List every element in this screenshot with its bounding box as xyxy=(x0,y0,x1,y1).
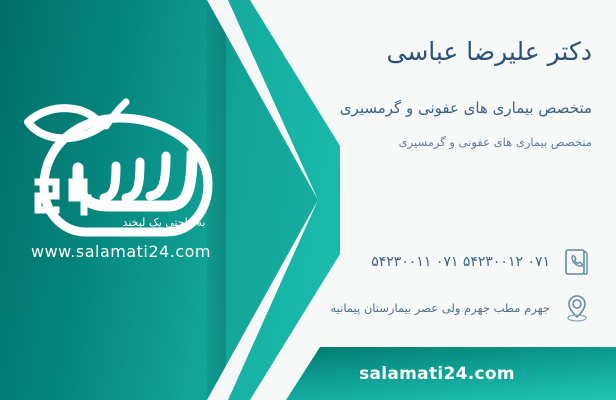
brand-logo: به راحتی یک لبخند www.salamati24.com xyxy=(16,96,226,276)
logo-website-url: www.salamati24.com xyxy=(16,242,226,261)
specialty-primary: متخصص بیماری های عفونی و گرمسیری xyxy=(240,98,592,119)
phone-numbers: ۰۷۱ ۵۴۲۳۰۰۱۲ ۰۷۱ ۵۴۲۳۰۰۱۱ xyxy=(240,254,550,270)
business-card: به راحتی یک لبخند www.salamati24.com دکت… xyxy=(0,0,616,400)
address-row: جهرم مطب جهرم ولی عصر بیمارستان پیمانیه xyxy=(240,292,592,324)
logo-tagline: به راحتی یک لبخند xyxy=(123,216,206,229)
footer-website: salamati24.com xyxy=(286,347,616,400)
map-pin-icon xyxy=(562,292,592,324)
apple-logo-icon: به راحتی یک لبخند xyxy=(16,96,226,246)
card-content: دکتر علیرضا عباسی متخصص بیماری های عفونی… xyxy=(240,0,592,400)
phonebook-icon xyxy=(562,246,592,278)
specialty-secondary: متخصص بیماری های عفونی و گرمسیری xyxy=(240,134,592,150)
address-text: جهرم مطب جهرم ولی عصر بیمارستان پیمانیه xyxy=(240,301,550,315)
footer-banner: salamati24.com xyxy=(286,347,616,400)
phone-row: ۰۷۱ ۵۴۲۳۰۰۱۲ ۰۷۱ ۵۴۲۳۰۰۱۱ xyxy=(240,246,592,278)
doctor-name: دکتر علیرضا عباسی xyxy=(240,36,592,69)
